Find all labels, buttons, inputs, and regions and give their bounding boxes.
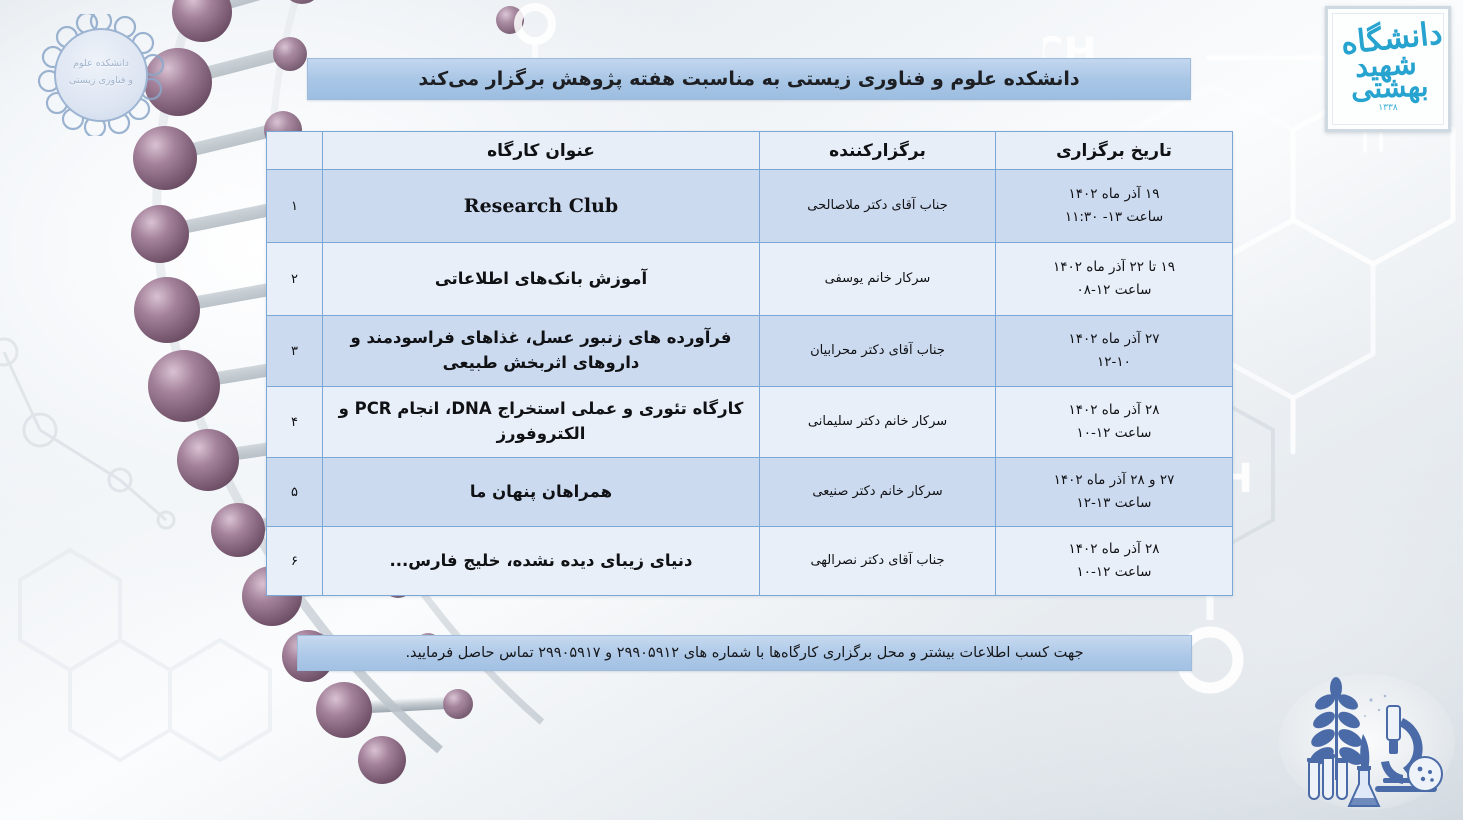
footer-banner-text: جهت کسب اطلاعات بیشتر و محل برگزاری کارگ… xyxy=(405,645,1083,661)
cell-title: فرآورده های زنبور عسل، غذاهای فراسودمند … xyxy=(323,316,760,387)
cell-date: ۱۹ تا ۲۲ آذر ماه ۱۴۰۲ ساعت ۱۲-۰۸ xyxy=(996,243,1233,316)
faculty-seal-text: دانشکده علوم و فناوری زیستی xyxy=(16,56,186,89)
cell-title: Research Club xyxy=(323,170,760,243)
cell-host: جناب آقای دکتر محرابیان xyxy=(760,316,996,387)
cell-date: ۲۷ و ۲۸ آذر ماه ۱۴۰۲ ساعت ۱۳-۱۲ xyxy=(996,458,1233,527)
university-logo: دانشگاه شهید بهشتی ۱۳۳۸ xyxy=(1325,6,1451,132)
university-logo-year: ۱۳۳۸ xyxy=(1378,103,1397,113)
cell-index: ۶ xyxy=(267,527,323,596)
cell-host: جناب آقای دکتر ملاصالحی xyxy=(760,170,996,243)
cell-host: سرکار خانم یوسفی xyxy=(760,243,996,316)
cell-index: ۳ xyxy=(267,316,323,387)
biotech-illustration xyxy=(1275,666,1455,816)
cell-date: ۲۷ آذر ماه ۱۴۰۲ ۱۲-۱۰ xyxy=(996,316,1233,387)
cell-title: آموزش بانک‌های اطلاعاتی xyxy=(323,243,760,316)
cell-date: ۲۸ آذر ماه ۱۴۰۲ ساعت ۱۲-۱۰ xyxy=(996,527,1233,596)
cell-index: ۵ xyxy=(267,458,323,527)
workshops-table-head: تاریخ برگزاری برگزارکننده عنوان کارگاه xyxy=(267,132,1233,170)
cell-index: ۴ xyxy=(267,387,323,458)
workshops-table: تاریخ برگزاری برگزارکننده عنوان کارگاه ۱… xyxy=(266,131,1233,596)
cell-title: کارگاه تئوری و عملی استخراج DNA، انجام P… xyxy=(323,387,760,458)
table-header-row: تاریخ برگزاری برگزارکننده عنوان کارگاه xyxy=(267,132,1233,170)
cell-host: سرکار خانم دکتر صنیعی xyxy=(760,458,996,527)
cell-title: همراهان پنهان ما xyxy=(323,458,760,527)
faculty-seal-logo: دانشکده علوم و فناوری زیستی xyxy=(16,14,186,136)
table-row: ۲۷ و ۲۸ آذر ماه ۱۴۰۲ ساعت ۱۳-۱۲سرکار خان… xyxy=(267,458,1233,527)
header-banner-text: دانشکده علوم و فناوری زیستی به مناسبت هف… xyxy=(418,68,1079,90)
workshops-table-body: ۱۹ آذر ماه ۱۴۰۲ ساعت ۱۳- ۱۱:۳۰جناب آقای … xyxy=(267,170,1233,596)
cell-index: ۲ xyxy=(267,243,323,316)
university-logo-line3: بهشتی xyxy=(1351,74,1429,102)
cell-host: جناب آقای دکتر نصرالهی xyxy=(760,527,996,596)
table-row: ۲۸ آذر ماه ۱۴۰۲ ساعت ۱۲-۱۰جناب آقای دکتر… xyxy=(267,527,1233,596)
table-row: ۱۹ تا ۲۲ آذر ماه ۱۴۰۲ ساعت ۱۲-۰۸سرکار خا… xyxy=(267,243,1233,316)
column-header-host: برگزارکننده xyxy=(760,132,996,170)
cell-title: دنیای زیبای دیده نشده، خلیج فارس... xyxy=(323,527,760,596)
university-logo-inner: دانشگاه شهید بهشتی ۱۳۳۸ xyxy=(1332,13,1444,125)
faculty-seal-line2: و فناوری زیستی xyxy=(16,73,186,90)
test-tubes-icon xyxy=(1307,754,1349,799)
cell-date: ۲۸ آذر ماه ۱۴۰۲ ساعت ۱۲-۱۰ xyxy=(996,387,1233,458)
cell-host: سرکار خانم دکتر سلیمانی xyxy=(760,387,996,458)
poster-canvas: CH 3 H NH xyxy=(0,0,1463,820)
cell-index: ۱ xyxy=(267,170,323,243)
column-header-date: تاریخ برگزاری xyxy=(996,132,1233,170)
column-header-index xyxy=(267,132,323,170)
table-row: ۲۷ آذر ماه ۱۴۰۲ ۱۲-۱۰جناب آقای دکتر محرا… xyxy=(267,316,1233,387)
faculty-seal-line1: دانشکده علوم xyxy=(16,56,186,73)
cell-date: ۱۹ آذر ماه ۱۴۰۲ ساعت ۱۳- ۱۱:۳۰ xyxy=(996,170,1233,243)
header-banner: دانشکده علوم و فناوری زیستی به مناسبت هف… xyxy=(307,58,1191,100)
column-header-title: عنوان کارگاه xyxy=(323,132,760,170)
table-row: ۱۹ آذر ماه ۱۴۰۲ ساعت ۱۳- ۱۱:۳۰جناب آقای … xyxy=(267,170,1233,243)
table-row: ۲۸ آذر ماه ۱۴۰۲ ساعت ۱۲-۱۰سرکار خانم دکت… xyxy=(267,387,1233,458)
footer-banner: جهت کسب اطلاعات بیشتر و محل برگزاری کارگ… xyxy=(297,635,1192,671)
